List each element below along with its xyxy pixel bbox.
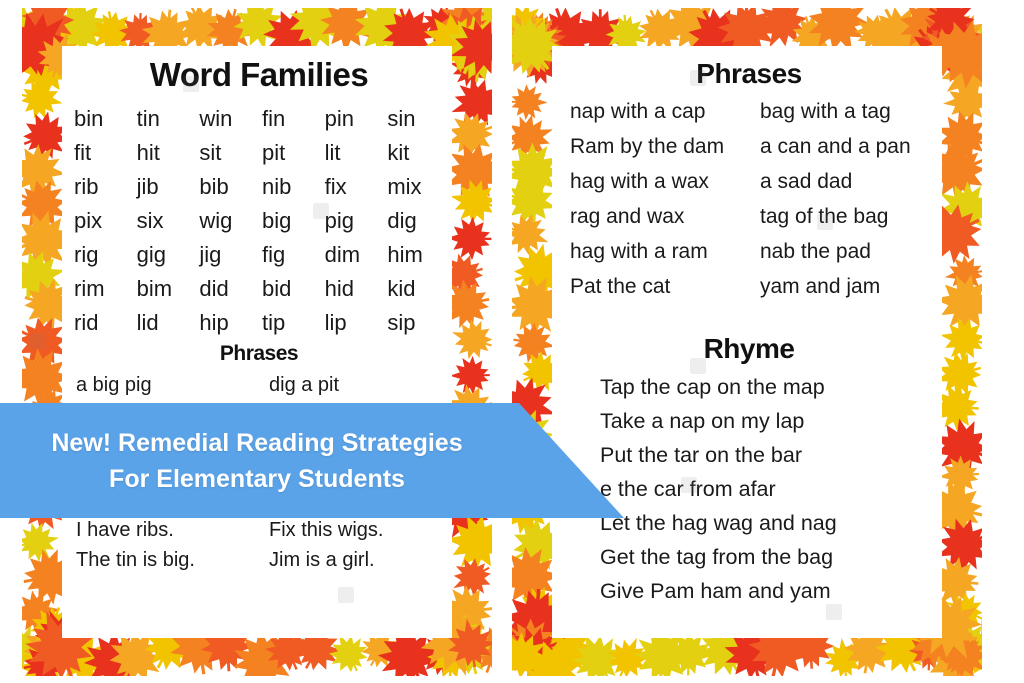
rhyme-line: Give Pam ham and yam (600, 579, 946, 604)
phrase-item: Ram by the dam (570, 135, 756, 159)
word-family-item: bid (262, 276, 325, 302)
word-family-item: rim (74, 276, 137, 302)
word-family-item: hit (137, 140, 200, 166)
word-family-item: pin (325, 106, 388, 132)
promo-banner-line-1: New! Remedial Reading Strategies (51, 425, 462, 461)
rhyme-line: Take a nap on my lap (600, 409, 946, 434)
rhyme-line: e the car from afar (600, 477, 946, 502)
word-family-item: tin (137, 106, 200, 132)
rhyme-title: Rhyme (552, 333, 946, 365)
word-family-item: dig (387, 208, 450, 234)
word-family-item: bib (199, 174, 262, 200)
word-families-title: Word Families (62, 56, 456, 94)
phrase-item: dig a pit (269, 374, 456, 397)
word-family-item: lip (325, 310, 388, 336)
phrase-item: hag with a ram (570, 240, 756, 264)
word-family-item: mix (387, 174, 450, 200)
word-family-item: jib (137, 174, 200, 200)
right-phrases-list: nap with a capbag with a tagRam by the d… (552, 100, 946, 299)
rhyme-line: Get the tag from the bag (600, 545, 946, 570)
phrase-item: bag with a tag (760, 100, 946, 124)
word-family-item: hid (325, 276, 388, 302)
word-family-item: sip (387, 310, 450, 336)
word-family-item: lid (137, 310, 200, 336)
word-family-item: did (199, 276, 262, 302)
word-families-grid: bintinwinfinpinsinfithitsitpitlitkitribj… (62, 106, 456, 336)
word-family-item: kid (387, 276, 450, 302)
word-family-item: nib (262, 174, 325, 200)
worksheet-card-left: Word Families bintinwinfinpinsinfithitsi… (22, 8, 492, 676)
phrase-item: tag of the bag (760, 205, 946, 229)
rhyme-line: Tap the cap on the map (600, 375, 946, 400)
word-family-item: dim (325, 242, 388, 268)
phrase-item: nab the pad (760, 240, 946, 264)
left-card-content: Word Families bintinwinfinpinsinfithitsi… (62, 48, 456, 646)
word-family-item: pig (325, 208, 388, 234)
word-family-item: pit (262, 140, 325, 166)
word-family-item: him (387, 242, 450, 268)
word-family-item: fit (74, 140, 137, 166)
promo-banner[interactable]: New! Remedial Reading Strategies For Ele… (0, 403, 624, 519)
word-family-item: rib (74, 174, 137, 200)
word-family-item: fix (325, 174, 388, 200)
word-family-item: kit (387, 140, 450, 166)
sentence-item: Fix this wigs. (269, 519, 456, 542)
right-phrases-title: Phrases (552, 58, 946, 90)
promo-banner-line-2: For Elementary Students (109, 461, 405, 497)
word-family-item: win (199, 106, 262, 132)
phrase-item: nap with a cap (570, 100, 756, 124)
phrase-item: a can and a pan (760, 135, 946, 159)
phrase-item: Pat the cat (570, 275, 756, 299)
word-family-item: fin (262, 106, 325, 132)
word-family-item: lit (325, 140, 388, 166)
phrase-item: a big pig (76, 374, 263, 397)
left-phrases-title: Phrases (62, 342, 456, 366)
word-family-item: big (262, 208, 325, 234)
sentence-item: Jim is a girl. (269, 549, 456, 572)
phrase-item: rag and wax (570, 205, 756, 229)
worksheet-card-right: Phrases nap with a capbag with a tagRam … (512, 8, 982, 676)
word-family-item: rig (74, 242, 137, 268)
word-family-item: hip (199, 310, 262, 336)
left-phrases-list: a big pigdig a pit (62, 374, 456, 397)
rhyme-line: Put the tar on the bar (600, 443, 946, 468)
right-card-content: Phrases nap with a capbag with a tagRam … (552, 48, 946, 646)
word-family-item: tip (262, 310, 325, 336)
word-family-item: jig (199, 242, 262, 268)
word-family-item: sin (387, 106, 450, 132)
phrase-item: a sad dad (760, 170, 946, 194)
word-family-item: six (137, 208, 200, 234)
word-family-item: bin (74, 106, 137, 132)
word-family-item: bim (137, 276, 200, 302)
sentence-item: I have ribs. (76, 519, 263, 542)
word-family-item: wig (199, 208, 262, 234)
word-family-item: sit (199, 140, 262, 166)
word-family-item: rid (74, 310, 137, 336)
word-family-item: fig (262, 242, 325, 268)
word-family-item: gig (137, 242, 200, 268)
phrase-item: yam and jam (760, 275, 946, 299)
word-family-item: pix (74, 208, 137, 234)
phrase-item: hag with a wax (570, 170, 756, 194)
sentence-item: The tin is big. (76, 549, 263, 572)
promo-banner-text: New! Remedial Reading Strategies For Ele… (0, 403, 624, 519)
rhyme-line: Let the hag wag and nag (600, 511, 946, 536)
